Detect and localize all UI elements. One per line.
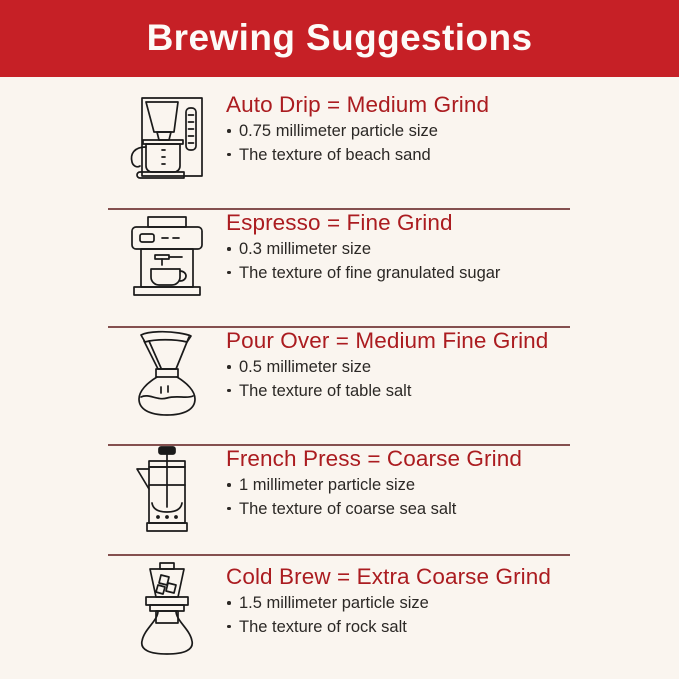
bullet-text: The texture of coarse sea salt (239, 500, 456, 518)
bullet-dot-icon (227, 483, 231, 487)
list-item: The texture of coarse sea salt (226, 498, 679, 521)
bullet-dot-icon (227, 389, 231, 393)
row-espresso: Espresso = Fine Grind 0.3 millimeter siz… (0, 195, 679, 313)
french-press-text: French Press = Coarse Grind 1 millimeter… (226, 445, 679, 521)
cold-brew-tower-icon (108, 563, 226, 655)
pour-over-chemex-icon (108, 327, 226, 419)
row-heading-cold-brew: Cold Brew = Extra Coarse Grind (226, 565, 679, 589)
bullet-text: The texture of table salt (239, 382, 411, 400)
suggestion-rows: Auto Drip = Medium Grind 0.75 millimeter… (0, 77, 679, 679)
list-item: 0.5 millimeter size (226, 356, 679, 379)
list-item: 0.75 millimeter particle size (226, 120, 679, 143)
espresso-text: Espresso = Fine Grind 0.3 millimeter siz… (226, 209, 679, 285)
list-item: 0.3 millimeter size (226, 238, 679, 261)
list-item: The texture of rock salt (226, 616, 679, 639)
bullet-dot-icon (227, 129, 231, 133)
auto-drip-text: Auto Drip = Medium Grind 0.75 millimeter… (226, 91, 679, 167)
list-item: The texture of beach sand (226, 144, 679, 167)
row-heading-auto-drip: Auto Drip = Medium Grind (226, 93, 679, 117)
row-heading-pour-over: Pour Over = Medium Fine Grind (226, 329, 679, 353)
espresso-machine-icon (108, 209, 226, 301)
bullet-list-french-press: 1 millimeter particle size The texture o… (226, 474, 679, 521)
cold-brew-text: Cold Brew = Extra Coarse Grind 1.5 milli… (226, 563, 679, 639)
row-auto-drip: Auto Drip = Medium Grind 0.75 millimeter… (0, 77, 679, 195)
bullet-text: 0.3 millimeter size (239, 240, 371, 258)
bullet-list-auto-drip: 0.75 millimeter particle size The textur… (226, 120, 679, 167)
bullet-text: The texture of rock salt (239, 618, 407, 636)
row-pour-over: Pour Over = Medium Fine Grind 0.5 millim… (0, 313, 679, 431)
row-heading-french-press: French Press = Coarse Grind (226, 447, 679, 471)
bullet-text: 1.5 millimeter particle size (239, 594, 429, 612)
bullet-text: The texture of fine granulated sugar (239, 264, 500, 282)
page-title: Brewing Suggestions (147, 19, 533, 58)
bullet-list-cold-brew: 1.5 millimeter particle size The texture… (226, 592, 679, 639)
bullet-dot-icon (227, 601, 231, 605)
pour-over-text: Pour Over = Medium Fine Grind 0.5 millim… (226, 327, 679, 403)
bullet-text: 1 millimeter particle size (239, 476, 415, 494)
bullet-text: 0.5 millimeter size (239, 358, 371, 376)
bullet-dot-icon (227, 507, 231, 511)
header-banner: Brewing Suggestions (0, 0, 679, 77)
row-french-press: French Press = Coarse Grind 1 millimeter… (0, 431, 679, 549)
row-cold-brew: Cold Brew = Extra Coarse Grind 1.5 milli… (0, 549, 679, 667)
bullet-dot-icon (227, 153, 231, 157)
list-item: The texture of table salt (226, 380, 679, 403)
row-heading-espresso: Espresso = Fine Grind (226, 211, 679, 235)
list-item: 1.5 millimeter particle size (226, 592, 679, 615)
bullet-list-espresso: 0.3 millimeter size The texture of fine … (226, 238, 679, 285)
bullet-dot-icon (227, 365, 231, 369)
bullet-text: The texture of beach sand (239, 146, 431, 164)
list-item: The texture of fine granulated sugar (226, 262, 679, 285)
list-item: 1 millimeter particle size (226, 474, 679, 497)
bullet-text: 0.75 millimeter particle size (239, 122, 438, 140)
bullet-dot-icon (227, 271, 231, 275)
french-press-icon (108, 445, 226, 537)
bullet-list-pour-over: 0.5 millimeter size The texture of table… (226, 356, 679, 403)
brewing-suggestions-infographic: Brewing Suggestions (0, 0, 679, 679)
auto-drip-coffee-maker-icon (108, 91, 226, 183)
bullet-dot-icon (227, 247, 231, 251)
bullet-dot-icon (227, 625, 231, 629)
